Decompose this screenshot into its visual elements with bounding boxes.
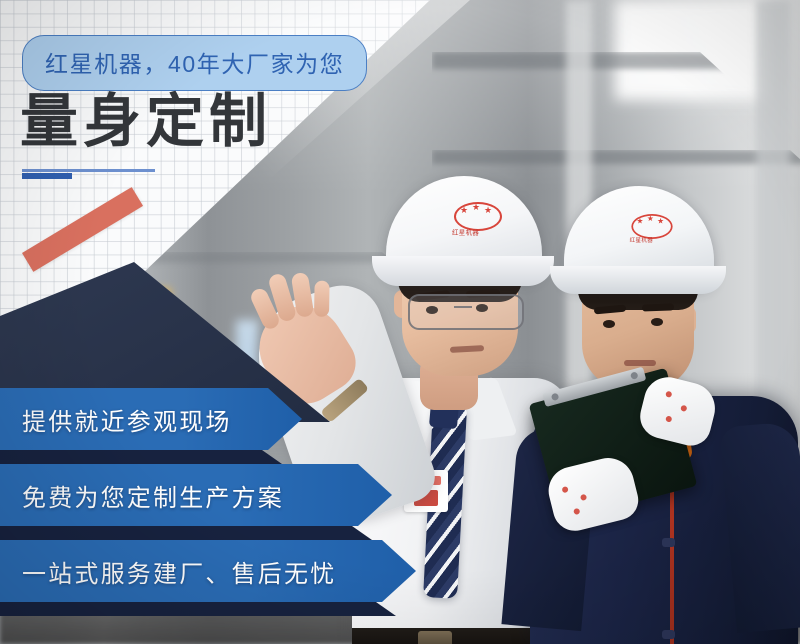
worker-eye bbox=[651, 318, 663, 326]
logo-brand-text: 红星机器 bbox=[452, 228, 479, 237]
page-title: 量身定制 bbox=[20, 93, 272, 151]
logo-star: ★ bbox=[647, 215, 654, 223]
title-underline-thin bbox=[22, 169, 155, 172]
feature-banner-3: 一站式服务建厂、售后无忧 bbox=[0, 540, 416, 602]
headline-badge: 红星机器，40年大厂家为您 bbox=[22, 35, 367, 91]
feature-banner-group: 提供就近参观现场 免费为您定制生产方案 一站式服务建厂、售后无忧 bbox=[0, 388, 420, 612]
logo-star: ★ bbox=[460, 206, 468, 215]
logo-star: ★ bbox=[484, 206, 492, 215]
worker-hat-brim bbox=[550, 266, 726, 294]
feature-banner-1: 提供就近参观现场 bbox=[0, 388, 302, 450]
feature-banner-3-shadow bbox=[0, 602, 396, 616]
hardhat-logo: ★ ★ ★ 红星机器 bbox=[454, 202, 502, 231]
engineer-belt-buckle bbox=[418, 631, 452, 644]
promo-banner: ★ ★ ★ 红星机器 bbox=[0, 0, 800, 644]
feature-banner-3-label: 一站式服务建厂、售后无忧 bbox=[0, 554, 336, 589]
engineer-finger bbox=[314, 281, 330, 317]
feature-banner-2-label: 免费为您定制生产方案 bbox=[0, 478, 284, 513]
feature-banner-2-shadow bbox=[0, 526, 372, 540]
worker-figure: ★ ★ ★ 红星机器 bbox=[520, 178, 800, 644]
worker-uniform-piping bbox=[670, 478, 674, 644]
worker-eye bbox=[603, 320, 615, 328]
logo-star: ★ bbox=[637, 217, 644, 225]
logo-star: ★ bbox=[657, 217, 664, 225]
title-underline-thick bbox=[22, 173, 72, 179]
feature-banner-2: 免费为您定制生产方案 bbox=[0, 464, 392, 526]
worker-eyebrow bbox=[642, 303, 674, 311]
hardhat-logo: ★ ★ ★ 红星机器 bbox=[631, 214, 672, 239]
logo-brand-text: 红星机器 bbox=[630, 236, 653, 244]
engineer-glasses-bridge bbox=[454, 306, 472, 308]
skylight-window bbox=[615, 0, 765, 100]
feature-banner-1-label: 提供就近参观现场 bbox=[0, 402, 232, 437]
logo-star: ★ bbox=[472, 203, 480, 212]
worker-uniform-button bbox=[662, 538, 675, 547]
feature-banner-1-shadow bbox=[0, 450, 282, 464]
worker-mouth bbox=[624, 360, 656, 366]
engineer-eyeglasses bbox=[408, 294, 524, 330]
worker-uniform-button bbox=[662, 630, 675, 639]
